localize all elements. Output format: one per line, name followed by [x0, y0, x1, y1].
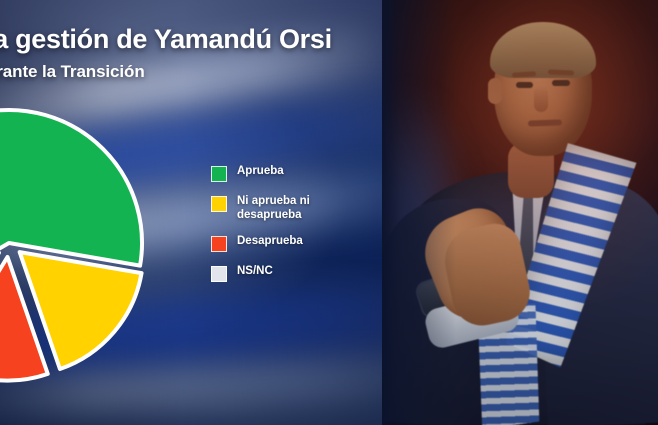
legend-item-aprueba[interactable]: Aprueba: [211, 165, 371, 182]
pie-chart: 61% Aprueba: [0, 106, 148, 380]
legend-label-nsnc: NS/NC: [237, 265, 273, 279]
page-subtitle: urante la Transición: [0, 60, 416, 84]
legend-item-desaprueba[interactable]: Desaprueba: [211, 235, 371, 252]
legend-label-ni-aprueba-ni-desaprueba: Ni aprueba ni desaprueba: [237, 195, 310, 222]
legend-label-aprueba: Aprueba: [237, 165, 284, 179]
legend-item-ni-aprueba-ni-desaprueba[interactable]: Ni aprueba ni desaprueba: [211, 195, 371, 222]
page-title: la gestión de Yamandú Orsi: [0, 22, 416, 56]
figure-eye-left: [516, 82, 533, 88]
figure-eye-right: [552, 80, 570, 86]
figure-ear: [488, 78, 502, 104]
figure-nose: [534, 86, 548, 112]
legend-swatch-ni-aprueba-ni-desaprueba: [211, 196, 227, 212]
legend-swatch-aprueba: [211, 166, 227, 182]
legend-swatch-desaprueba: [211, 236, 227, 252]
legend-swatch-nsnc: [211, 266, 227, 282]
pie-chart-svg: [0, 106, 148, 380]
legend-label-desaprueba: Desaprueba: [237, 235, 303, 249]
figure-mouth: [528, 119, 562, 126]
infographic-slide: la gestión de Yamandú Orsi urante la Tra…: [0, 0, 658, 425]
legend-item-nsnc[interactable]: NS/NC: [211, 265, 371, 282]
headline-block: la gestión de Yamandú Orsi urante la Tra…: [0, 22, 416, 84]
president-photo: [382, 0, 658, 425]
chart-legend: Aprueba Ni aprueba ni desaprueba Desapru…: [211, 165, 371, 282]
